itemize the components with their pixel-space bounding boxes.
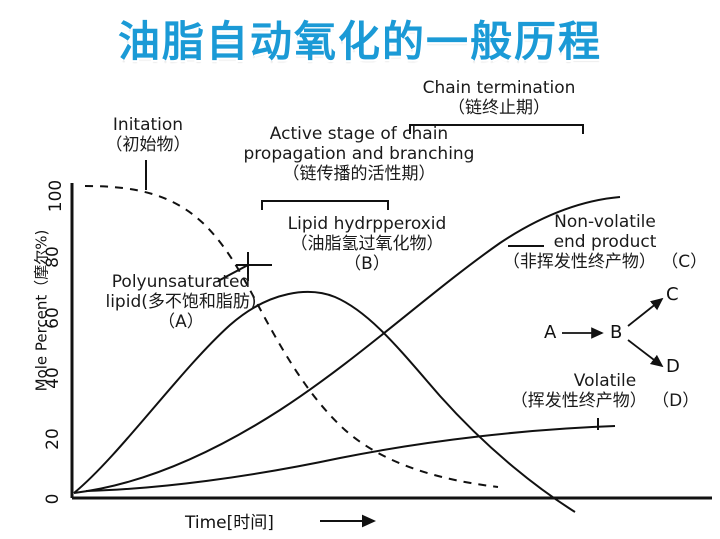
bracket-active-stage — [262, 201, 388, 210]
label-curve-c: Non-volatile end product （非挥发性终产物） （C） — [490, 212, 720, 272]
label-curve-a: Polyunsaturated lipid(多不饱和脂肪) （A） — [68, 272, 294, 332]
y-tick-100: 100 — [46, 174, 66, 218]
curve-d-volatile-end-product — [86, 426, 615, 491]
scheme-node-d: D — [666, 356, 680, 377]
y-tick-60: 60 — [43, 301, 63, 335]
scheme-node-a: A — [544, 322, 556, 343]
y-tick-80: 80 — [43, 240, 63, 274]
scheme-node-c: C — [666, 284, 679, 305]
label-active-stage: Active stage of chain propagation and br… — [228, 124, 490, 184]
y-tick-0: 0 — [43, 482, 63, 516]
label-curve-b: Lipid hydrpperoxid （油脂氢过氧化物） （B） — [264, 214, 470, 274]
figure-canvas: 油脂自动氧化的一般历程 — [0, 0, 720, 539]
y-tick-20: 20 — [43, 422, 63, 456]
label-chain-termination: Chain termination （链终止期） — [404, 78, 594, 118]
scheme-node-b: B — [610, 322, 622, 343]
y-tick-40: 40 — [43, 361, 63, 395]
label-curve-d: Volatile （挥发性终产物） （D） — [492, 371, 718, 411]
x-axis-label: Time[时间] — [185, 508, 274, 533]
label-initation: Initation （初始物） — [84, 115, 212, 155]
